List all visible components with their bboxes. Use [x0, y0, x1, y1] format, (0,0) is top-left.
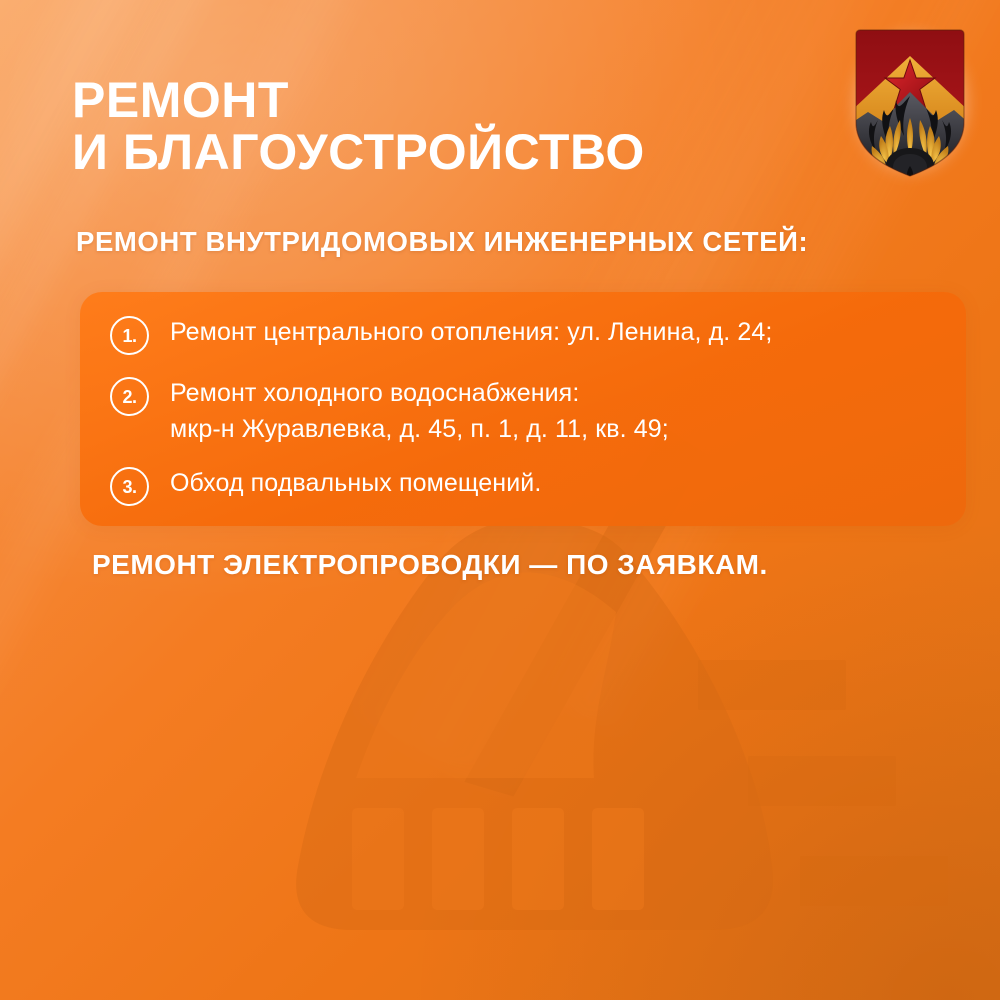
- poster-canvas: РЕМОНТ И БЛАГОУСТРОЙСТВО РЕМОНТ ВНУТРИДО…: [0, 0, 1000, 1000]
- page-title: РЕМОНТ И БЛАГОУСТРОЙСТВО: [72, 74, 872, 178]
- list-item-text: Ремонт холодного водоснабжения: мкр-н Жу…: [170, 375, 669, 447]
- page-title-line2: И БЛАГОУСТРОЙСТВО: [72, 126, 872, 178]
- list-item-text: Ремонт центрального отопления: ул. Ленин…: [170, 314, 772, 350]
- list-number-badge: 2.: [110, 377, 149, 416]
- list-item: 1. Ремонт центрального отопления: ул. Ле…: [110, 314, 772, 355]
- list-item: 3. Обход подвальных помещений.: [110, 465, 541, 506]
- list-number-badge: 3.: [110, 467, 149, 506]
- page-title-line1: РЕМОНТ: [72, 72, 289, 128]
- list-item-text: Обход подвальных помещений.: [170, 465, 541, 501]
- numbered-list: 1. Ремонт центрального отопления: ул. Ле…: [80, 292, 966, 526]
- list-number-badge: 1.: [110, 316, 149, 355]
- list-item: 2. Ремонт холодного водоснабжения: мкр-н…: [110, 375, 669, 447]
- list-card: 1. Ремонт центрального отопления: ул. Ле…: [80, 292, 966, 526]
- section-heading: РЕМОНТ ВНУТРИДОМОВЫХ ИНЖЕНЕРНЫХ СЕТЕЙ:: [76, 226, 956, 258]
- footer-note: РЕМОНТ ЭЛЕКТРОПРОВОДКИ — ПО ЗАЯВКАМ.: [92, 548, 972, 582]
